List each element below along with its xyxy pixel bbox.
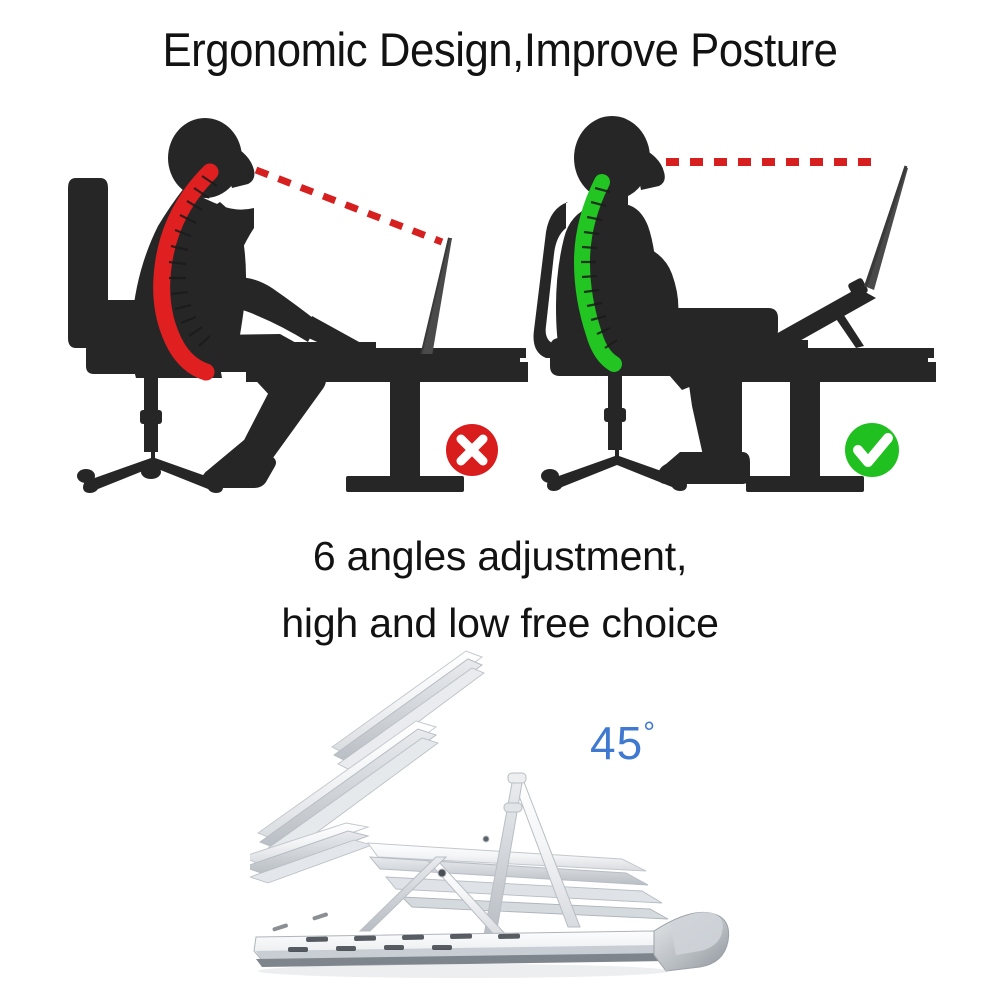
angle-annotation: 45° — [590, 718, 656, 768]
page-title: Ergonomic Design,Improve Posture — [35, 22, 965, 78]
angle-value: 45 — [590, 717, 643, 769]
stand-front-lip — [654, 912, 729, 971]
laptop-on-stand-good — [758, 166, 908, 354]
sightline-bad — [256, 170, 442, 242]
keyboard-bad — [246, 342, 376, 352]
bad-posture-illustration — [60, 110, 540, 500]
subheading-line-2: high and low free choice — [0, 600, 1000, 646]
good-posture-illustration — [520, 110, 1000, 500]
product-shadow — [258, 964, 670, 978]
subheading-line-1: 6 angles adjustment, — [0, 533, 1000, 579]
product-photo-laptop-stand — [250, 645, 770, 985]
status-badge-check — [845, 423, 899, 477]
degree-symbol: ° — [643, 717, 656, 750]
stand-base-plate — [254, 912, 670, 967]
status-badge-cross — [446, 424, 498, 476]
infographic-page: Ergonomic Design,Improve Posture — [0, 0, 1000, 1000]
